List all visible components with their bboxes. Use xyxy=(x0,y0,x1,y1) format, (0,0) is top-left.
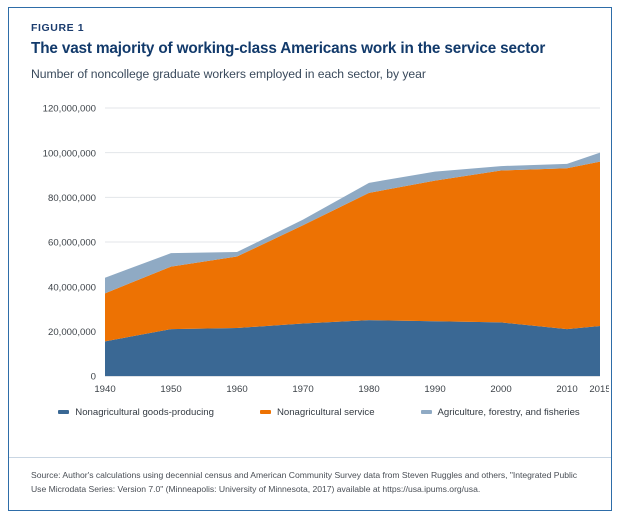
y-axis-tick-label: 20,000,000 xyxy=(48,327,96,338)
stacked-area-chart: 020,000,00040,000,00060,000,00080,000,00… xyxy=(13,101,609,401)
x-axis-tick-label: 2010 xyxy=(556,384,577,395)
figure-title: The vast majority of working-class Ameri… xyxy=(31,39,589,58)
x-axis-tick-label: 2000 xyxy=(490,384,511,395)
legend-swatch-service xyxy=(260,410,271,414)
x-axis-tick-label: 1990 xyxy=(424,384,445,395)
legend-label-goods: Nonagricultural goods-producing xyxy=(75,407,214,418)
source-divider xyxy=(9,457,611,458)
x-axis-tick-label: 2015 xyxy=(589,384,609,395)
legend-swatch-agriculture xyxy=(421,410,432,414)
x-axis-tick-label: 1970 xyxy=(292,384,313,395)
y-axis-tick-label: 40,000,000 xyxy=(48,282,96,293)
x-axis-tick-label: 1950 xyxy=(160,384,181,395)
area-series-1 xyxy=(105,162,600,342)
legend-swatch-goods xyxy=(58,410,69,414)
figure-card: FIGURE 1 The vast majority of working-cl… xyxy=(8,7,612,511)
y-axis-tick-label: 100,000,000 xyxy=(43,148,96,159)
source-note: Source: Author's calculations using dece… xyxy=(31,469,589,496)
legend-item-agriculture: Agriculture, forestry, and fisheries xyxy=(421,407,580,418)
figure-subtitle: Number of noncollege graduate workers em… xyxy=(31,67,589,83)
chart-legend: Nonagricultural goods-producing Nonagric… xyxy=(9,407,611,418)
legend-label-agriculture: Agriculture, forestry, and fisheries xyxy=(438,407,580,418)
x-axis-tick-label: 1960 xyxy=(226,384,247,395)
y-axis-tick-label: 120,000,000 xyxy=(43,104,96,115)
chart-area: 020,000,00040,000,00060,000,00080,000,00… xyxy=(13,101,599,401)
legend-item-service: Nonagricultural service xyxy=(260,407,375,418)
x-axis-tick-label: 1980 xyxy=(358,384,379,395)
y-axis-tick-label: 80,000,000 xyxy=(48,193,96,204)
legend-item-goods: Nonagricultural goods-producing xyxy=(58,407,214,418)
figure-label: FIGURE 1 xyxy=(31,22,589,34)
figure-header: FIGURE 1 The vast majority of working-cl… xyxy=(9,8,611,83)
legend-label-service: Nonagricultural service xyxy=(277,407,375,418)
y-axis-tick-label: 60,000,000 xyxy=(48,238,96,249)
y-axis-tick-label: 0 xyxy=(91,372,96,383)
x-axis-tick-label: 1940 xyxy=(94,384,115,395)
